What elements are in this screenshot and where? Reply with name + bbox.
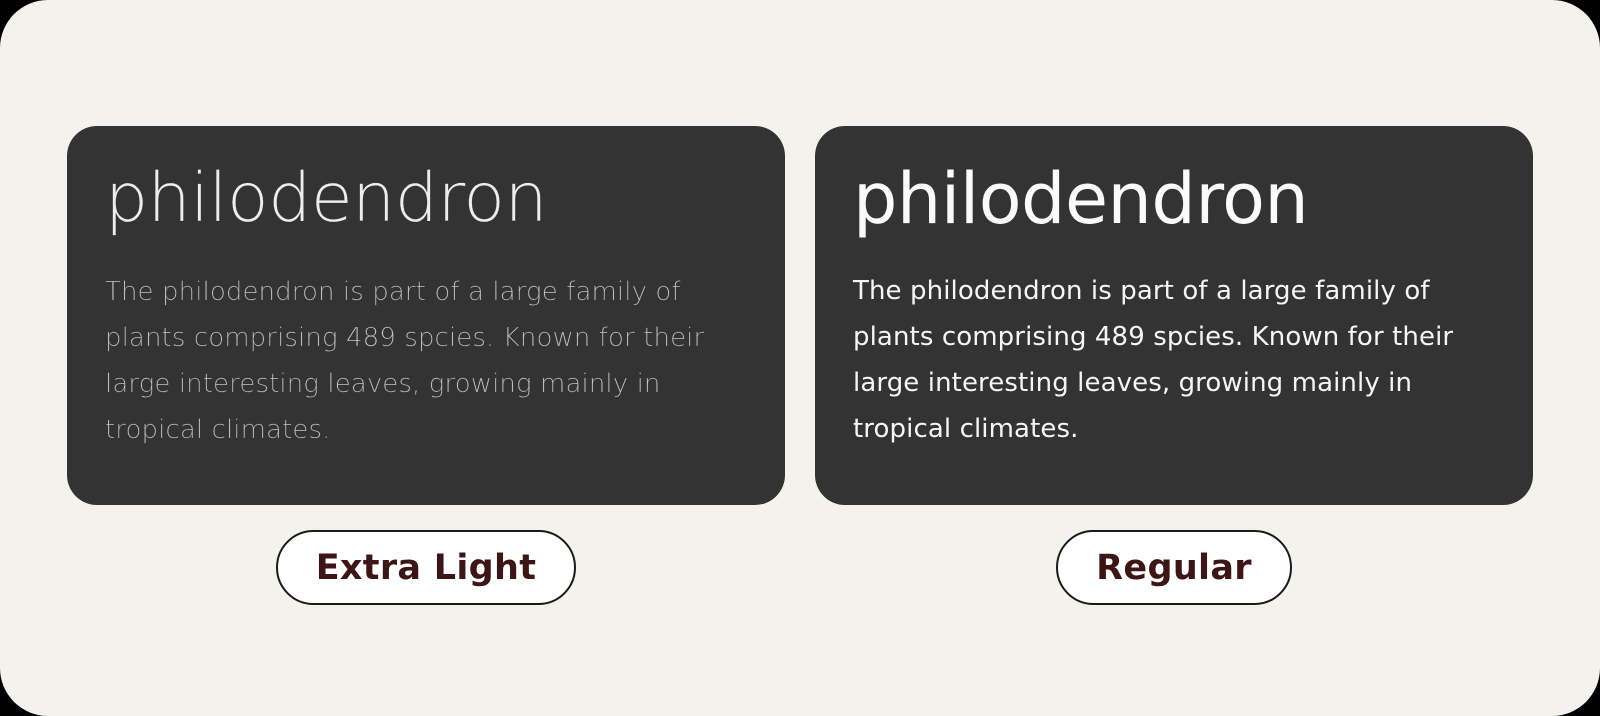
- specimen-title-regular: philodendron: [853, 162, 1495, 238]
- specimen-body-extra-light: The philodendron is part of a large fami…: [105, 269, 747, 453]
- weight-label-cell-regular: Regular: [815, 530, 1533, 605]
- specimen-card-row: philodendron The philodendron is part of…: [67, 126, 1533, 505]
- weight-button-extra-light[interactable]: Extra Light: [276, 530, 577, 605]
- weight-label-cell-extra-light: Extra Light: [67, 530, 785, 605]
- specimen-card-extra-light: philodendron The philodendron is part of…: [67, 126, 785, 505]
- weight-label-button-row: Extra Light Regular: [67, 530, 1533, 605]
- font-specimen-page: philodendron The philodendron is part of…: [0, 0, 1600, 716]
- specimen-body-regular: The philodendron is part of a large fami…: [853, 268, 1495, 452]
- specimen-title-extra-light: philodendron: [105, 162, 747, 235]
- weight-button-regular[interactable]: Regular: [1056, 530, 1292, 605]
- specimen-card-regular: philodendron The philodendron is part of…: [815, 126, 1533, 505]
